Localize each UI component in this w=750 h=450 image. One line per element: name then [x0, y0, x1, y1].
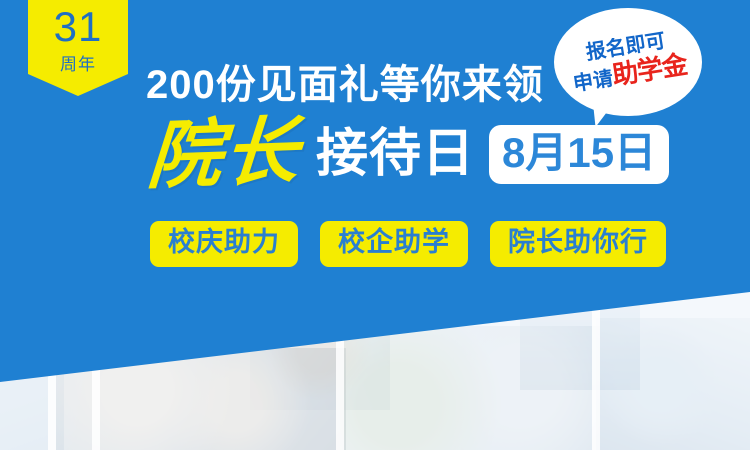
- anniversary-number: 31: [28, 0, 128, 48]
- bottom-white-sliver: [550, 286, 750, 316]
- title-brush-text: 院长: [145, 114, 303, 193]
- pill-button-2[interactable]: 校企助学: [320, 221, 468, 267]
- anniversary-label: 周年: [28, 48, 128, 73]
- speech-bubble-callout: 报名即可 申请助学金: [554, 8, 702, 116]
- headline-text: 200份见面礼等你来领: [146, 52, 544, 110]
- title-white-text: 接待日: [316, 128, 475, 180]
- pill-button-row: 校庆助力 校企助学 院长助你行: [150, 221, 666, 267]
- promo-banner: 31 周年 200份见面礼等你来领 报名即可 申请助学金 院长 接待日 8月15…: [0, 0, 750, 450]
- photo-tile: [340, 326, 600, 450]
- pill-button-3[interactable]: 院长助你行: [490, 221, 666, 267]
- bubble-apply-text: 申请: [572, 68, 615, 96]
- pill-button-1[interactable]: 校庆助力: [150, 221, 298, 267]
- date-badge: 8月15日: [489, 125, 669, 184]
- main-title-row: 院长 接待日 8月15日: [148, 112, 669, 196]
- photo-tile: [596, 318, 750, 450]
- speech-bubble-text: 报名即可 申请助学金: [546, 0, 709, 127]
- photo-gutter: [592, 295, 600, 450]
